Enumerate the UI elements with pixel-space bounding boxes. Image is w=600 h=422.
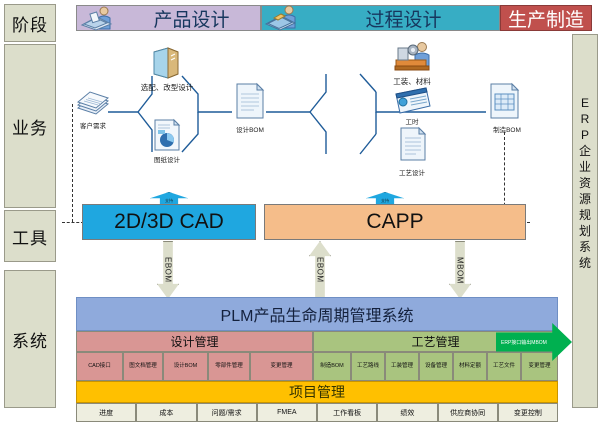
blue-book-icon bbox=[150, 46, 182, 85]
erp-char-3: 企 bbox=[579, 143, 591, 159]
sidebar-label-tool: 工具 bbox=[12, 224, 48, 249]
cell-process-0[interactable]: 制造BOM bbox=[313, 352, 351, 381]
erp-char-5: 资 bbox=[579, 175, 591, 191]
cell-process-1[interactable]: 工艺路线 bbox=[351, 352, 385, 381]
cell-design-4[interactable]: 变更管理 bbox=[250, 352, 313, 381]
cell-project-1[interactable]: 成本 bbox=[136, 403, 196, 422]
project-management-label: 项目管理 bbox=[289, 382, 345, 402]
cell-design-3[interactable]: 零部件管理 bbox=[208, 352, 250, 381]
erp-char-7: 规 bbox=[579, 207, 591, 223]
cell-design-2[interactable]: 设计BOM bbox=[163, 352, 208, 381]
dashed-guide-left-horizontal bbox=[62, 222, 84, 223]
cell-project-4[interactable]: 工作看板 bbox=[317, 403, 377, 422]
bom-arrow-mbom-down: MBOM bbox=[449, 241, 471, 299]
design-management-label: 设计管理 bbox=[170, 333, 218, 350]
bom-arrow-label-mbom-down: MBOM bbox=[456, 257, 465, 284]
chart-document-icon bbox=[152, 118, 182, 157]
flow-label-customer-demand: 客户需求 bbox=[80, 120, 106, 130]
flow-label-man-hour: 工时 bbox=[406, 116, 419, 126]
phase-label-product-design: 产品设计 bbox=[123, 5, 260, 32]
erp-system-column: E R P 企 业 资 源 规 划 系 统 bbox=[572, 34, 598, 408]
cell-project-5[interactable]: 绩效 bbox=[377, 403, 437, 422]
bom-arrow-label-ebom-down: EBOM bbox=[164, 257, 173, 283]
process-flow-diagram: 客户需求 选配、改型设计 图纸设计 bbox=[60, 34, 572, 190]
designer-at-desk-icon bbox=[77, 5, 123, 31]
erp-char-6: 源 bbox=[579, 191, 591, 207]
document-icon bbox=[234, 82, 266, 125]
project-management-cells-row: 进度 成本 问题/需求 FMEA 工作看板 绩效 供应商协同 变更控制 bbox=[76, 403, 558, 422]
cell-process-3[interactable]: 设备管理 bbox=[419, 352, 453, 381]
bom-arrow-ebom-up: EBOM bbox=[309, 241, 331, 299]
flow-label-config-variant-design: 选配、改型设计 bbox=[141, 82, 194, 93]
tool-label-capp: CAPP bbox=[366, 210, 423, 234]
tool-box-cad[interactable]: 2D/3D CAD bbox=[82, 204, 256, 240]
erp-char-1: R bbox=[581, 111, 590, 127]
phase-bar-product-design[interactable]: 产品设计 bbox=[76, 5, 261, 31]
cell-process-4[interactable]: 材料定额 bbox=[453, 352, 487, 381]
phase-bar-process-design[interactable]: 过程设计 bbox=[261, 5, 500, 31]
erp-char-4: 业 bbox=[579, 159, 591, 175]
management-header-row: 设计管理 工艺管理 bbox=[76, 331, 558, 352]
cell-process-2[interactable]: 工装管理 bbox=[385, 352, 419, 381]
phase-label-process-design: 过程设计 bbox=[308, 5, 499, 32]
factory-worker-icon bbox=[390, 40, 436, 79]
sidebar-item-stage[interactable]: 阶段 bbox=[4, 4, 56, 42]
plm-system-stack: PLM产品生命周期管理系统 设计管理 工艺管理 CAD接口 图文档管理 设计BO… bbox=[76, 297, 558, 422]
cell-project-7[interactable]: 变更控制 bbox=[498, 403, 558, 422]
erp-char-10: 统 bbox=[579, 255, 591, 271]
management-cells-row: CAD接口 图文档管理 设计BOM 零部件管理 变更管理 制造BOM 工艺路线 … bbox=[76, 352, 558, 381]
dashed-guide-left bbox=[72, 104, 73, 222]
engineer-at-desk-icon bbox=[262, 5, 308, 31]
flow-label-design-bom: 设计BOM bbox=[236, 124, 264, 134]
sidebar-item-tool[interactable]: 工具 bbox=[4, 210, 56, 262]
flow-label-process-design: 工艺设计 bbox=[399, 167, 425, 177]
phase-label-manufacturing: 生产制造 bbox=[508, 5, 584, 32]
phase-bar-manufacturing[interactable]: 生产制造 bbox=[500, 5, 592, 31]
cell-process-5[interactable]: 工艺文件 bbox=[487, 352, 521, 381]
cell-project-3[interactable]: FMEA bbox=[257, 403, 317, 422]
erp-interface-arrow-label: ERP接口输出MBOM bbox=[501, 339, 547, 346]
erp-char-2: P bbox=[581, 127, 589, 143]
sidebar-label-business: 业务 bbox=[12, 114, 48, 139]
tool-label-cad: 2D/3D CAD bbox=[114, 210, 224, 234]
cell-design-1[interactable]: 图文档管理 bbox=[123, 352, 163, 381]
sidebar-label-system: 系统 bbox=[12, 327, 48, 352]
flow-label-manufacturing-bom: 制造BOM bbox=[493, 124, 521, 134]
bom-arrow-ebom-down: EBOM bbox=[157, 241, 179, 299]
sidebar-item-business[interactable]: 业务 bbox=[4, 44, 56, 208]
cell-project-2[interactable]: 问题/需求 bbox=[197, 403, 257, 422]
process-management-label: 工艺管理 bbox=[411, 333, 459, 350]
plm-title-bar[interactable]: PLM产品生命周期管理系统 bbox=[76, 297, 558, 331]
cell-project-6[interactable]: 供应商协同 bbox=[438, 403, 498, 422]
plm-title-label: PLM产品生命周期管理系统 bbox=[221, 302, 414, 326]
table-document-icon bbox=[488, 82, 522, 125]
erp-char-0: E bbox=[581, 95, 589, 111]
flow-label-drawing-design: 图纸设计 bbox=[154, 154, 180, 164]
sidebar-label-stage: 阶段 bbox=[12, 11, 48, 36]
erp-char-8: 划 bbox=[579, 223, 591, 239]
design-management-header[interactable]: 设计管理 bbox=[76, 331, 313, 352]
sidebar-item-system[interactable]: 系统 bbox=[4, 270, 56, 408]
lined-document-icon bbox=[398, 126, 428, 169]
bom-arrow-label-ebom-up: EBOM bbox=[316, 257, 325, 283]
cell-project-0[interactable]: 进度 bbox=[76, 403, 136, 422]
cell-design-0[interactable]: CAD接口 bbox=[76, 352, 123, 381]
project-management-header[interactable]: 项目管理 bbox=[76, 381, 558, 403]
stacked-papers-icon bbox=[74, 90, 112, 123]
erp-char-9: 系 bbox=[579, 239, 591, 255]
tool-box-capp[interactable]: CAPP bbox=[264, 204, 526, 240]
